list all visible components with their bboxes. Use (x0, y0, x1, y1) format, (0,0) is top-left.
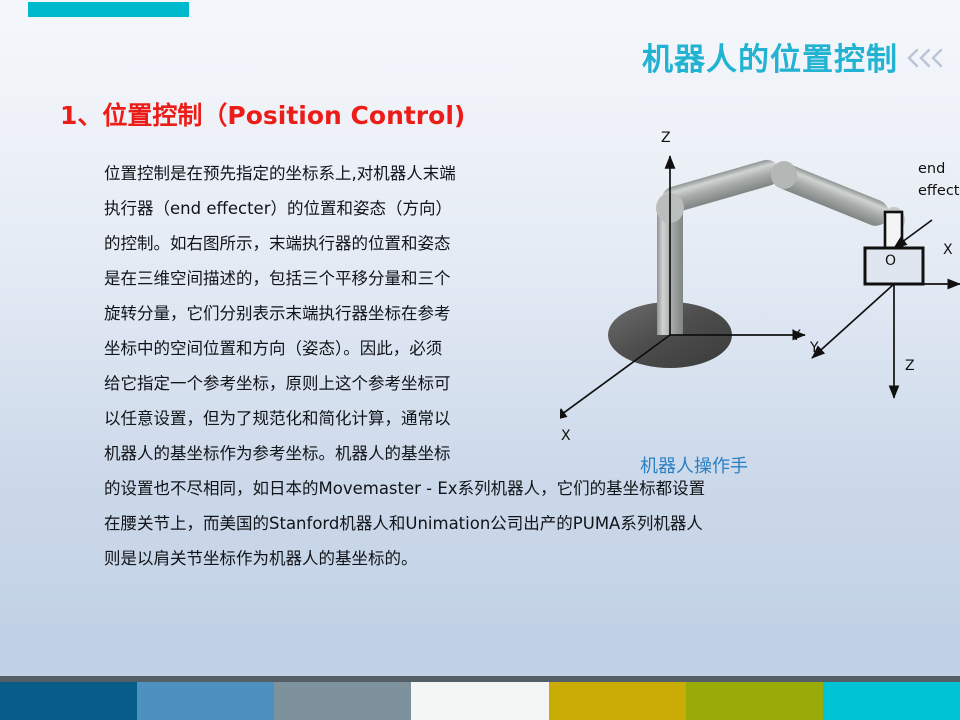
slide-canvas: 机器人的位置控制 1、位置控制（Position Control) 位置控制是在… (0, 0, 960, 720)
footer-color-bar (0, 682, 960, 720)
diagram-caption: 机器人操作手 (640, 452, 748, 478)
tool-origin-label: O (885, 253, 896, 269)
tool-frame-axes (812, 284, 960, 398)
end-effector-label-line2: effecter (918, 183, 960, 199)
body-line: 机器人的基坐标作为参考坐标。机器人的基坐标 (104, 436, 574, 471)
body-line: 是在三维空间描述的，包括三个平移分量和三个 (104, 261, 574, 296)
tool-axis-label-x: X (943, 242, 953, 258)
end-effector-label-line1: end (918, 161, 945, 177)
tool-axis-label-y: Y (791, 328, 801, 344)
body-line: 执行器（end effecter）的位置和姿态（方向） (104, 191, 574, 226)
segment-slate (274, 682, 411, 720)
body-line: 的控制。如右图所示，末端执行器的位置和姿态 (104, 226, 574, 261)
page-title: 机器人的位置控制 (642, 34, 898, 79)
top-accent-bar (28, 2, 189, 17)
body-line: 旋转分量，它们分别表示末端执行器坐标在参考 (104, 296, 574, 331)
segment-olive (686, 682, 823, 720)
body-line: 在腰关节上，而美国的Stanford机器人和Unimation公司出产的PUMA… (104, 506, 894, 541)
segment-dark-blue (0, 682, 137, 720)
end-effector-callout: end effecter (894, 161, 960, 248)
chevron-decoration-icon (904, 46, 952, 70)
robot-manipulator-diagram: Z Y X (560, 120, 960, 500)
tool-axis-label-z: Z (905, 358, 915, 374)
robot-upper-arm-link (656, 157, 783, 223)
base-axis-label-z: Z (661, 130, 671, 146)
slide-header: 机器人的位置控制 (0, 34, 960, 82)
segment-cyan (823, 682, 960, 720)
segment-white (411, 682, 548, 720)
segment-gold (549, 682, 686, 720)
body-line: 则是以肩关节坐标作为机器人的基坐标的。 (104, 541, 894, 576)
body-line: 坐标中的空间位置和方向（姿态）。因此，必须 (104, 331, 574, 366)
segment-medium-blue (137, 682, 274, 720)
body-line: 以任意设置，但为了规范化和简化计算，通常以 (104, 401, 574, 436)
body-line: 位置控制是在预先指定的坐标系上,对机器人末端 (104, 156, 574, 191)
base-axis-label-x: X (561, 428, 571, 444)
body-line: 给它指定一个参考坐标，原则上这个参考坐标可 (104, 366, 574, 401)
section-heading: 1、位置控制（Position Control) (60, 96, 465, 132)
